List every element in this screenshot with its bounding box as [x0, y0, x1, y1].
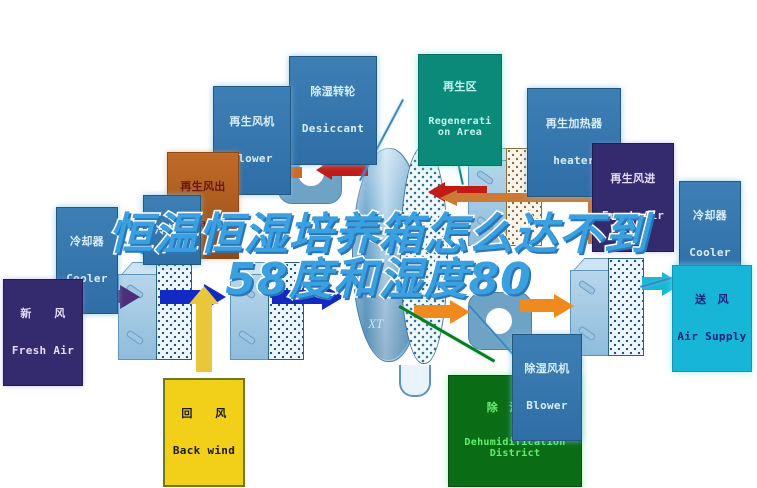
dehumidifier-diagram: XT [0, 0, 757, 488]
label-regeneration-fresh-air-cn: 再生风进 [595, 173, 671, 185]
overlay-title-line1: 恒温恒湿培养箱怎么达不到 [0, 212, 757, 257]
label-back-wind-cn: 回 风 [167, 408, 241, 420]
overlay-title: 恒温恒湿培养箱怎么达不到 58度和湿度80 [0, 212, 757, 303]
label-fresh-air-en: Fresh Air [6, 345, 80, 357]
arrow-back-wind-shaft [196, 300, 212, 372]
label-dehumidification-blower[interactable]: 除湿风机 Blower [512, 334, 582, 441]
label-regeneration-heater-cn: 再生加热器 [530, 118, 618, 130]
label-regeneration-area-en: Regenerati on Area [421, 116, 499, 138]
wheel-drive-belt [399, 365, 431, 397]
label-dehumidification-blower-en: Blower [515, 400, 579, 412]
label-fresh-air-cn: 新 风 [6, 308, 80, 320]
label-desiccant-wheel-cn: 除湿转轮 [292, 86, 374, 98]
label-desiccant-wheel[interactable]: 除湿转轮 Desiccant [289, 56, 377, 165]
label-air-supply-en: Air Supply [675, 331, 749, 343]
label-dehumidification-blower-cn: 除湿风机 [515, 363, 579, 375]
label-back-wind[interactable]: 回 风 Back wind [163, 378, 245, 487]
label-exhaust-cn: 再生风出 [170, 181, 236, 193]
label-regeneration-blower-cn: 再生风机 [216, 116, 288, 128]
wheel-watermark: XT [368, 316, 383, 332]
label-regeneration-area[interactable]: 再生区 Regenerati on Area [418, 54, 502, 166]
label-regeneration-area-cn: 再生区 [421, 81, 499, 93]
label-desiccant-wheel-en: Desiccant [292, 123, 374, 135]
dehumidification-blower-hub [485, 307, 513, 335]
label-back-wind-en: Back wind [167, 445, 241, 457]
overlay-title-line2: 58度和湿度80 [0, 257, 757, 302]
